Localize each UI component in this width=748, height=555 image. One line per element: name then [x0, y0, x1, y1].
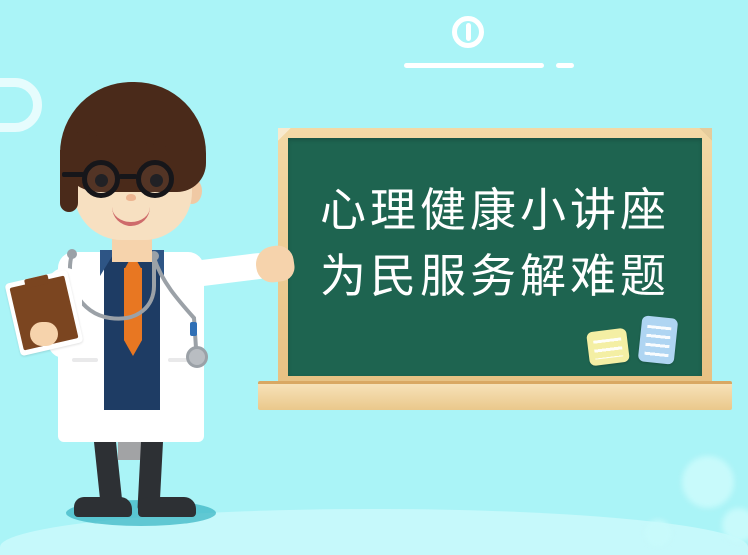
- glasses-lens-left: [82, 160, 120, 198]
- lamp-underline: [404, 63, 544, 68]
- bokeh-circle: [682, 456, 734, 508]
- sticky-note-yellow: [586, 328, 630, 367]
- doctor-illustration: [0, 0, 300, 555]
- nose: [126, 194, 136, 201]
- power-lamp-icon: [398, 16, 598, 78]
- blackboard-text: 心理健康小讲座 为民服务解难题: [288, 178, 702, 310]
- blackboard-face: 心理健康小讲座 为民服务解难题: [288, 138, 702, 376]
- shoe-left: [74, 497, 132, 517]
- sticky-note-lines: [644, 325, 671, 358]
- poster-canvas: 心理健康小讲座 为民服务解难题: [0, 0, 748, 555]
- sticky-note-blue: [638, 315, 679, 365]
- glasses-lens-right: [136, 160, 174, 198]
- stethoscope-chip: [190, 322, 197, 336]
- sticky-note-lines: [593, 337, 623, 359]
- blackboard-line-2: 为民服务解难题: [288, 244, 702, 310]
- bokeh-circle: [722, 508, 748, 542]
- chalk-ledge: [258, 381, 732, 410]
- blackboard-frame: 心理健康小讲座 为民服务解难题: [278, 128, 712, 386]
- lamp-bar-icon: [466, 23, 471, 41]
- blackboard-line-1: 心理健康小讲座: [288, 178, 702, 244]
- lamp-dash: [556, 63, 574, 68]
- stethoscope-bell: [186, 346, 208, 368]
- glasses-temple: [62, 172, 84, 177]
- shoe-right: [138, 497, 196, 517]
- glasses-bridge: [119, 174, 137, 179]
- bokeh-circle: [645, 520, 671, 546]
- hair-sideburn: [60, 150, 78, 212]
- hand-left-holding-clipboard: [30, 322, 58, 346]
